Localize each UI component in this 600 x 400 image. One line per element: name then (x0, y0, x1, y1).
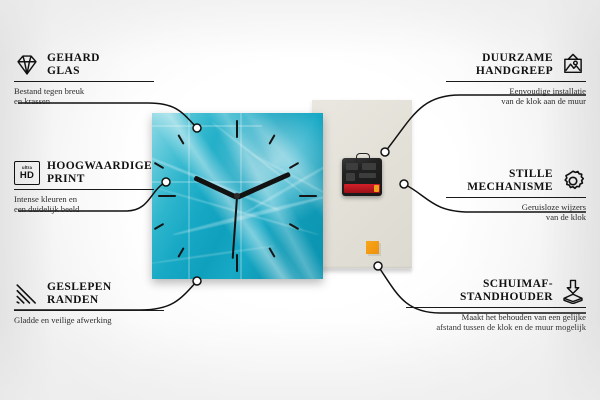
clock-tick-12 (236, 120, 238, 138)
callout-description: Bestand tegen breuk en krassen (14, 86, 154, 107)
spacer-arrow-icon (560, 278, 586, 304)
callout-description: Geruisloze wijzers van de klok (446, 202, 586, 223)
callout-divider (14, 81, 154, 82)
callout-geslepen-randen: GESLEPEN RANDEN Gladde en veilige afwerk… (14, 281, 164, 325)
hd-label: HD (20, 171, 34, 181)
callout-duurzame-handgreep: DUURZAME HANDGREEP Eenvoudige installati… (446, 52, 586, 107)
foam-spacer (366, 241, 379, 254)
wall-clock (152, 113, 323, 279)
callout-header: GEHARD GLAS (14, 52, 154, 78)
clock-tick-3 (299, 195, 317, 197)
infographic-canvas: GEHARD GLAS Bestand tegen breuk en krass… (0, 0, 600, 400)
callout-divider (406, 307, 586, 308)
callout-title: DUURZAME HANDGREEP (476, 52, 553, 78)
product-photo (152, 100, 412, 286)
callout-header: DUURZAME HANDGREEP (446, 52, 586, 78)
gear-icon (560, 168, 586, 194)
callout-divider (14, 189, 154, 190)
callout-divider (446, 197, 586, 198)
callout-title: GESLEPEN RANDEN (47, 281, 112, 307)
beveled-edges-icon (14, 281, 40, 307)
callout-divider (14, 310, 164, 311)
mechanism-battery (344, 184, 380, 193)
callout-header: SCHUIMAF- STANDHOUDER (406, 278, 586, 304)
callout-header: GESLEPEN RANDEN (14, 281, 164, 307)
callout-description: Intense kleuren en een duidelijk beeld (14, 194, 154, 215)
callout-title: STILLE MECHANISME (467, 168, 553, 194)
reflection-grid-line (152, 125, 262, 127)
battery-terminal (374, 185, 379, 192)
callout-stille-mechanisme: STILLE MECHANISME Geruisloze wijzers van… (446, 168, 586, 223)
callout-title: HOOGWAARDIGE PRINT (47, 160, 152, 186)
callout-divider (446, 81, 586, 82)
ultra-hd-badge-icon: ultra HD (14, 161, 40, 185)
clock-tick-9 (158, 195, 176, 197)
callout-description: Gladde en veilige afwerking (14, 315, 164, 325)
callout-description: Eenvoudige installatie van de klok aan d… (446, 86, 586, 107)
clock-tick-6 (236, 254, 238, 272)
callout-header: STILLE MECHANISME (446, 168, 586, 194)
mechanism-detail (362, 163, 376, 170)
clock-mechanism (342, 158, 382, 196)
callout-header: ultra HD HOOGWAARDIGE PRINT (14, 160, 154, 186)
callout-title: GEHARD GLAS (47, 52, 100, 78)
mechanism-detail (346, 163, 358, 170)
callout-gehard-glas: GEHARD GLAS Bestand tegen breuk en krass… (14, 52, 154, 107)
mechanism-detail (346, 173, 355, 181)
callout-description: Maakt het behouden van een gelijke afsta… (406, 312, 586, 333)
callout-schuimafstandhouder: SCHUIMAF- STANDHOUDER Maakt het behouden… (406, 278, 586, 333)
reflection-grid-line (188, 113, 190, 279)
diamond-icon (14, 52, 40, 78)
callout-title: SCHUIMAF- STANDHOUDER (460, 278, 553, 304)
wall-panel-shadow (312, 268, 412, 275)
mechanism-hanger (356, 153, 370, 162)
clock-hand-hub (234, 193, 240, 199)
callout-hoogwaardige-print: ultra HD HOOGWAARDIGE PRINT Intense kleu… (14, 160, 154, 215)
picture-hanger-icon (560, 52, 586, 78)
mechanism-detail (359, 173, 376, 178)
